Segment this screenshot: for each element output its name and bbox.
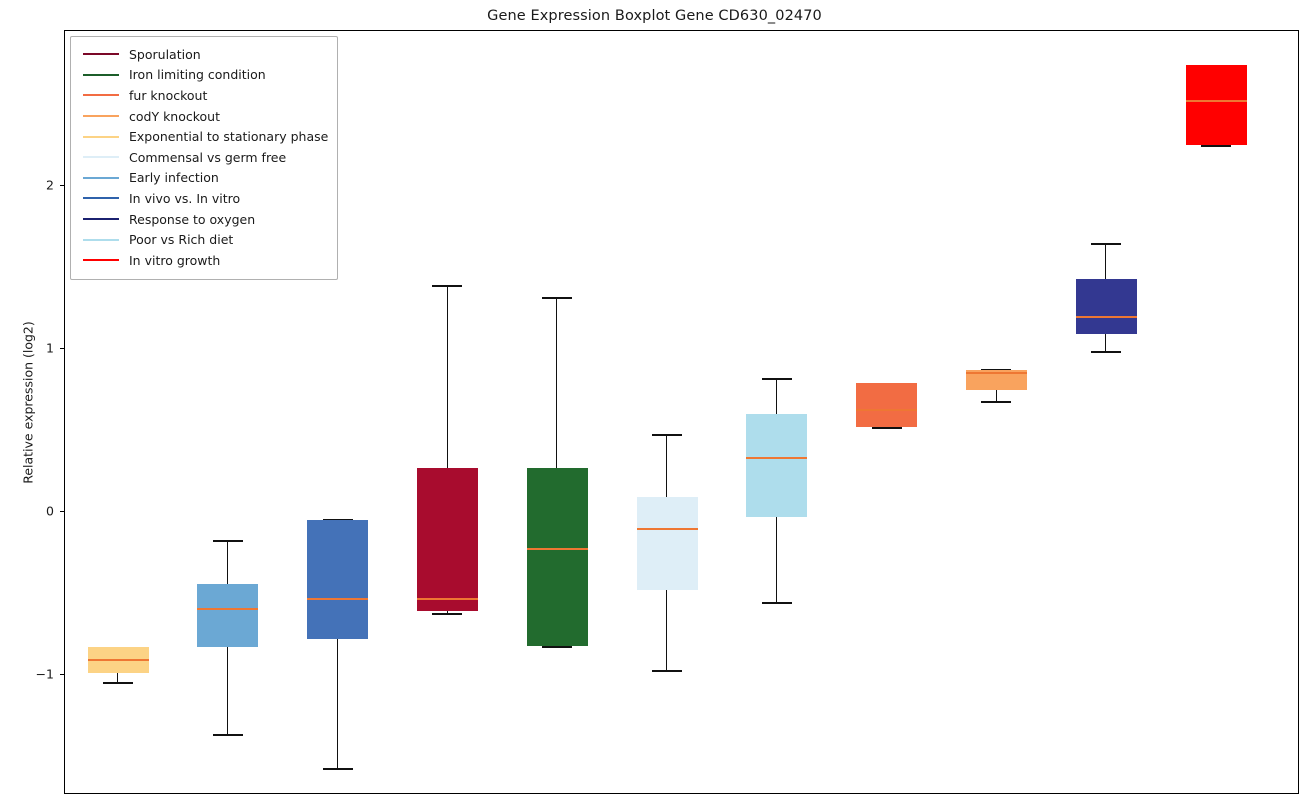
legend-color-swatch xyxy=(83,177,119,179)
box-in-vitro-growth[interactable] xyxy=(1186,65,1247,145)
legend-item-label: codY knockout xyxy=(129,109,220,124)
legend-color-swatch xyxy=(83,74,119,76)
legend-item[interactable]: Sporulation xyxy=(79,44,328,65)
legend-item-label: Exponential to stationary phase xyxy=(129,129,328,144)
legend-item[interactable]: Early infection xyxy=(79,168,328,189)
legend-color-swatch xyxy=(83,136,119,138)
y-tick-mark xyxy=(60,185,64,186)
legend: SporulationIron limiting conditionfur kn… xyxy=(70,36,338,280)
median-line xyxy=(1186,100,1247,102)
y-axis-label: Relative expression (log2) xyxy=(21,143,36,663)
legend-item-label: Poor vs Rich diet xyxy=(129,232,233,247)
legend-item[interactable]: fur knockout xyxy=(79,85,328,106)
legend-item-label: Response to oxygen xyxy=(129,212,255,227)
legend-item[interactable]: Response to oxygen xyxy=(79,209,328,230)
legend-item[interactable]: Commensal vs germ free xyxy=(79,147,328,168)
figure: Gene Expression Boxplot Gene CD630_02470… xyxy=(0,0,1309,812)
legend-item-label: Iron limiting condition xyxy=(129,67,266,82)
legend-color-swatch xyxy=(83,259,119,261)
y-tick-mark xyxy=(60,511,64,512)
legend-color-swatch xyxy=(83,239,119,241)
legend-item-label: fur knockout xyxy=(129,88,207,103)
legend-item-label: Early infection xyxy=(129,170,219,185)
page-title: Gene Expression Boxplot Gene CD630_02470 xyxy=(0,8,1309,24)
legend-item[interactable]: Exponential to stationary phase xyxy=(79,126,328,147)
legend-item[interactable]: In vitro growth xyxy=(79,250,328,271)
legend-item[interactable]: codY knockout xyxy=(79,106,328,127)
legend-color-swatch xyxy=(83,53,119,55)
cap-lower xyxy=(1201,145,1231,147)
legend-item-label: In vitro growth xyxy=(129,253,220,268)
legend-color-swatch xyxy=(83,197,119,199)
legend-color-swatch xyxy=(83,156,119,158)
legend-color-swatch xyxy=(83,94,119,96)
legend-color-swatch xyxy=(83,115,119,117)
legend-item[interactable]: Poor vs Rich diet xyxy=(79,229,328,250)
legend-item[interactable]: In vivo vs. In vitro xyxy=(79,188,328,209)
y-tick-mark xyxy=(60,348,64,349)
legend-color-swatch xyxy=(83,218,119,220)
legend-item-label: Sporulation xyxy=(129,47,201,62)
legend-item[interactable]: Iron limiting condition xyxy=(79,65,328,86)
legend-item-label: Commensal vs germ free xyxy=(129,150,286,165)
legend-item-label: In vivo vs. In vitro xyxy=(129,191,240,206)
y-tick-label: −1 xyxy=(0,667,54,682)
y-tick-mark xyxy=(60,674,64,675)
